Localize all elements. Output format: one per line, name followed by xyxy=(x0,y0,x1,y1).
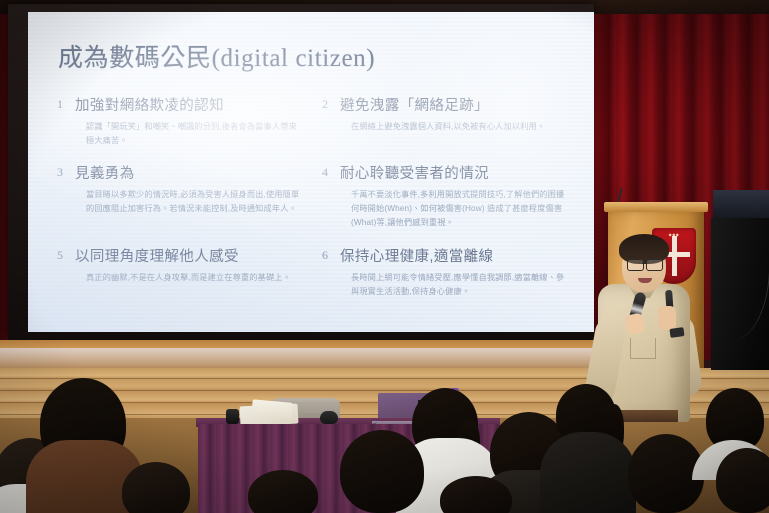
item-number: 2 xyxy=(319,94,331,112)
slide-item-grid: 1 加強對網絡欺凌的認知 認識「開玩笑」和嘲笑、嘲諷的分別,後者會為當事人帶來極… xyxy=(54,94,568,299)
audience-shoulders xyxy=(540,432,636,513)
glasses-bridge-icon xyxy=(642,263,646,264)
item-heading: 以同理角度理解他人感受 xyxy=(75,245,303,266)
wristwatch-icon xyxy=(669,327,684,338)
item-heading: 避免洩露「網絡足跡」 xyxy=(340,94,568,115)
item-description: 認識「開玩笑」和嘲笑、嘲諷的分別,後者會為當事人帶來極大痛苦。 xyxy=(75,120,303,148)
item-description: 千萬不要淡化事件,多利用開放式提問技巧,了解他們的困擾何時開始(When)、如何… xyxy=(340,188,568,230)
papers-stack-secondary xyxy=(251,399,292,418)
audience-head xyxy=(248,470,318,513)
presenter-right-hand xyxy=(658,306,676,330)
audience-head xyxy=(340,430,424,513)
item-heading: 保持心理健康,適當離線 xyxy=(340,245,568,266)
presenter-shirt-pocket xyxy=(630,338,656,359)
item-description: 在網絡上避免洩露個人資料,以免被有心人加以利用。 xyxy=(340,120,568,134)
podium-top-surface xyxy=(604,202,708,212)
item-description: 長時間上網可能令情緒受壓,應學懂自我調節,適當離線、參與現實生活活動,保持身心健… xyxy=(340,271,568,299)
av-equipment-unit xyxy=(713,190,769,220)
item-number: 5 xyxy=(54,245,66,263)
glasses-left-lens-icon xyxy=(627,259,644,271)
slide-item-6: 6 保持心理健康,適當離線 長時間上網可能令情緒受壓,應學懂自我調節,適當離線、… xyxy=(319,245,568,299)
presentation-photo-scene: 成為數碼公民(digital citizen) 1 加強對網絡欺凌的認知 認識「… xyxy=(0,0,769,513)
slide-content: 成為數碼公民(digital citizen) 1 加強對網絡欺凌的認知 認識「… xyxy=(28,12,594,332)
glasses-right-lens-icon xyxy=(646,259,663,271)
computer-mouse xyxy=(320,411,338,424)
slide-item-3: 3 見義勇為 當目睹以多欺少的情況時,必須為受害人挺身而出,使用簡單的回應阻止加… xyxy=(54,162,303,230)
item-number: 3 xyxy=(54,162,66,180)
item-heading: 耐心聆聽受害者的情況 xyxy=(340,162,568,183)
audience-head xyxy=(122,462,190,513)
item-description: 當目睹以多欺少的情況時,必須為受害人挺身而出,使用簡單的回應阻止加害行為。若情況… xyxy=(75,188,303,216)
item-heading: 見義勇為 xyxy=(75,162,303,183)
item-number: 1 xyxy=(54,94,66,112)
item-heading: 加強對網絡欺凌的認知 xyxy=(75,94,303,115)
projection-screen-frame: 成為數碼公民(digital citizen) 1 加強對網絡欺凌的認知 認識「… xyxy=(8,4,594,340)
small-device-on-desk xyxy=(226,409,239,424)
projection-screen: 成為數碼公民(digital citizen) 1 加強對網絡欺凌的認知 認識「… xyxy=(28,12,594,332)
slide-item-4: 4 耐心聆聽受害者的情況 千萬不要淡化事件,多利用開放式提問技巧,了解他們的困擾… xyxy=(319,162,568,230)
item-description: 真正的幽默,不是在人身攻擊,而是建立在尊重的基礎上。 xyxy=(75,271,303,285)
audience-head xyxy=(716,448,769,513)
slide-title: 成為數碼公民(digital citizen) xyxy=(58,38,568,74)
slide-item-1: 1 加強對網絡欺凌的認知 認識「開玩笑」和嘲笑、嘲諷的分別,後者會為當事人帶來極… xyxy=(54,94,303,148)
item-number: 6 xyxy=(319,245,331,263)
item-number: 4 xyxy=(319,162,331,180)
stage-floor-reflection xyxy=(0,348,620,370)
slide-item-5: 5 以同理角度理解他人感受 真正的幽默,不是在人身攻擊,而是建立在尊重的基礎上。 xyxy=(54,245,303,299)
slide-item-2: 2 避免洩露「網絡足跡」 在網絡上避免洩露個人資料,以免被有心人加以利用。 xyxy=(319,94,568,148)
